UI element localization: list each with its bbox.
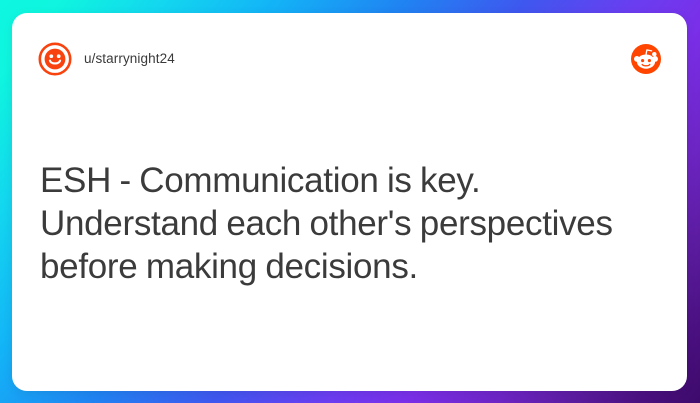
quote-text: ESH - Communication is key. Understand e… [40,159,665,288]
reddit-quote-card: u/starrynight24 ESH - Communication is k… [12,13,687,391]
author-block[interactable]: u/starrynight24 [38,42,175,76]
card-header: u/starrynight24 [12,13,687,105]
reddit-snoo-logo-icon[interactable] [631,44,661,74]
smiley-face-avatar-icon[interactable] [38,42,72,76]
author-username: u/starrynight24 [84,52,175,66]
